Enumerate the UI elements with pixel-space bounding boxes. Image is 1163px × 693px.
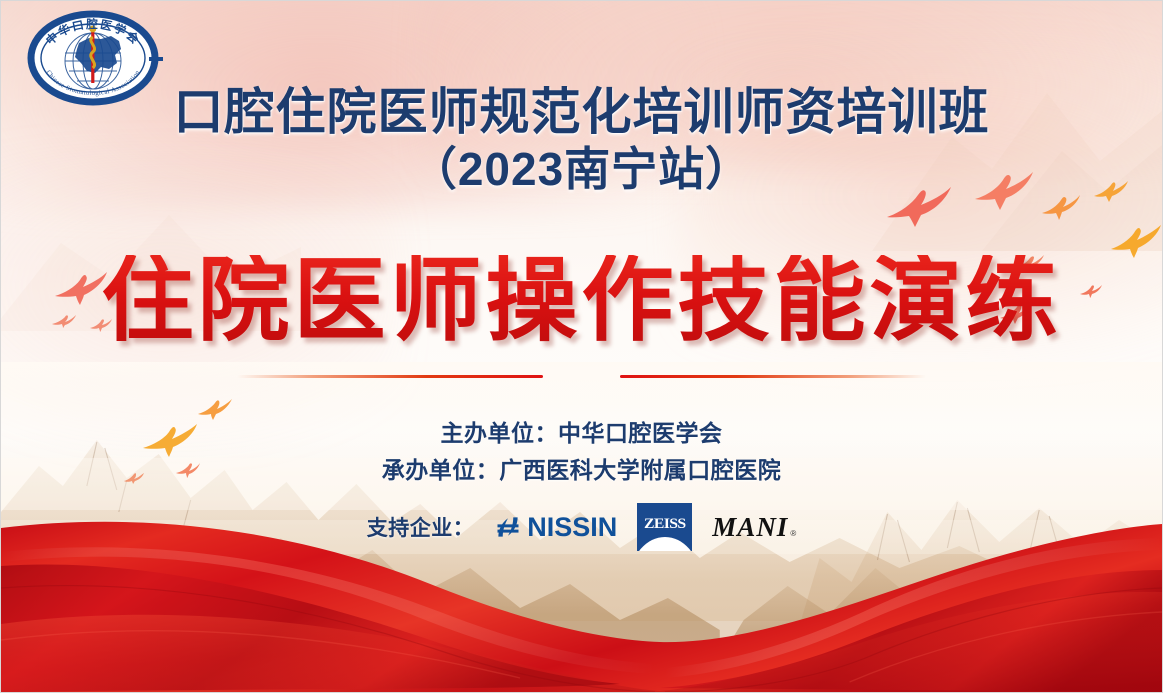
headline-divider bbox=[1, 375, 1162, 381]
divider-rule-left bbox=[237, 375, 543, 378]
conference-poster: 中华口腔医学会 Chinese Stomatological Associati… bbox=[0, 0, 1163, 693]
nissin-wordmark: NISSIN bbox=[527, 512, 617, 543]
sponsor-logo-mani: MANI ® bbox=[712, 512, 796, 543]
sponsor-label: 支持企业： bbox=[367, 512, 475, 542]
mani-wordmark: MANI bbox=[712, 512, 788, 543]
poster-title-line1: 口腔住院医师规范化培训师资培训班 bbox=[1, 85, 1162, 139]
title-block: 口腔住院医师规范化培训师资培训班 （2023南宁站） bbox=[1, 85, 1162, 195]
sponsor-logo-nissin: NISSIN bbox=[494, 512, 617, 543]
zeiss-arc-shape bbox=[637, 537, 692, 551]
sponsor-logo-zeiss: ZEISS bbox=[637, 503, 692, 551]
divider-rule-right bbox=[620, 375, 926, 378]
sponsor-row: 支持企业： NISSIN ZEISS MANI ® bbox=[1, 503, 1162, 551]
host-line: 承办单位：广西医科大学附属口腔医院 bbox=[1, 452, 1162, 489]
mani-registered-mark: ® bbox=[790, 529, 796, 538]
zeiss-wordmark: ZEISS bbox=[644, 516, 686, 533]
nissin-mark-icon bbox=[494, 513, 522, 541]
organizer-line: 主办单位：中华口腔医学会 bbox=[1, 415, 1162, 452]
poster-headline: 住院医师操作技能演练 bbox=[1, 255, 1162, 347]
poster-title-line2: （2023南宁站） bbox=[1, 145, 1162, 195]
poster-headline-text: 住院医师操作技能演练 bbox=[101, 255, 1061, 347]
organizer-block: 主办单位：中华口腔医学会 承办单位：广西医科大学附属口腔医院 bbox=[1, 415, 1162, 490]
